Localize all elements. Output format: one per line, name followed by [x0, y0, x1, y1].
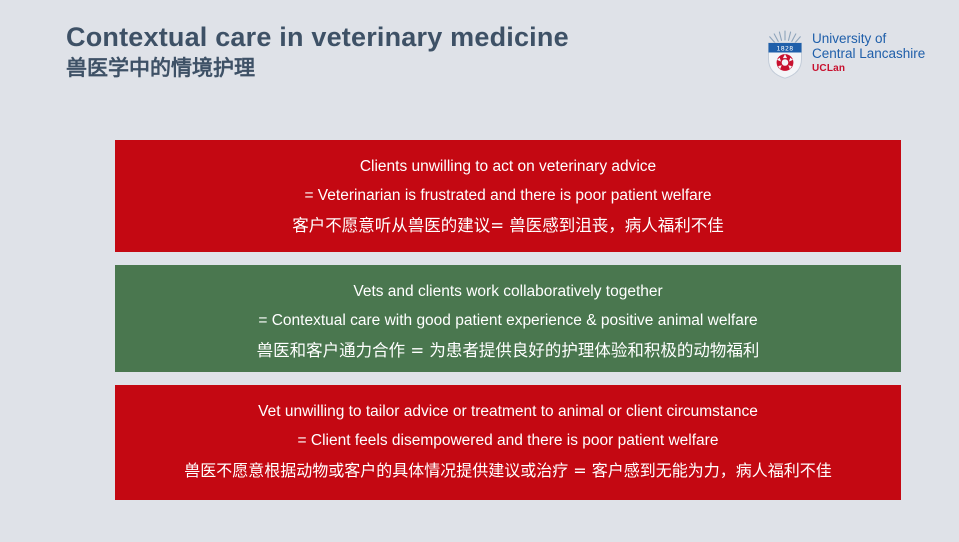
shield-crest-icon: 1828 [762, 29, 808, 79]
band-3-english-line-2: = Client feels disempowered and there is… [129, 426, 887, 455]
band-2-english-line-1: Vets and clients work collaboratively to… [129, 277, 887, 306]
band-1-english-line-1: Clients unwilling to act on veterinary a… [129, 152, 887, 181]
band-positive-collaboration: Vets and clients work collaboratively to… [115, 265, 901, 372]
band-1-chinese-line: 客户不愿意听从兽医的建议= 兽医感到沮丧，病人福利不佳 [129, 210, 887, 242]
presentation-slide: Contextual care in veterinary medicine 兽… [0, 0, 959, 542]
band-3-chinese-line: 兽医不愿意根据动物或客户的具体情况提供建议或治疗 = 客户感到无能为力，病人福利… [129, 455, 887, 487]
band-negative-client: Clients unwilling to act on veterinary a… [115, 140, 901, 252]
logo-wordmark: University of Central Lancashire UCLan [812, 31, 924, 75]
page-title: Contextual care in veterinary medicine 兽… [66, 22, 666, 82]
logo-abbreviation: UCLan [812, 63, 924, 75]
logo-line-2: Central Lancashire [812, 46, 924, 61]
band-2-english-line-2: = Contextual care with good patient expe… [129, 306, 887, 335]
page-title-chinese: 兽医学中的情境护理 [66, 54, 666, 82]
page-title-english: Contextual care in veterinary medicine [66, 22, 666, 52]
university-logo: 1828 University of [762, 29, 922, 79]
svg-text:1828: 1828 [777, 45, 794, 52]
band-2-chinese-line: 兽医和客户通力合作 = 为患者提供良好的护理体验和积极的动物福利 [129, 335, 887, 367]
band-negative-vet: Vet unwilling to tailor advice or treatm… [115, 385, 901, 500]
band-3-english-line-1: Vet unwilling to tailor advice or treatm… [129, 397, 887, 426]
outcome-bands: Clients unwilling to act on veterinary a… [115, 140, 901, 500]
band-1-english-line-2: = Veterinarian is frustrated and there i… [129, 181, 887, 210]
logo-line-1: University of [812, 31, 924, 46]
slide-header: Contextual care in veterinary medicine 兽… [0, 0, 959, 110]
